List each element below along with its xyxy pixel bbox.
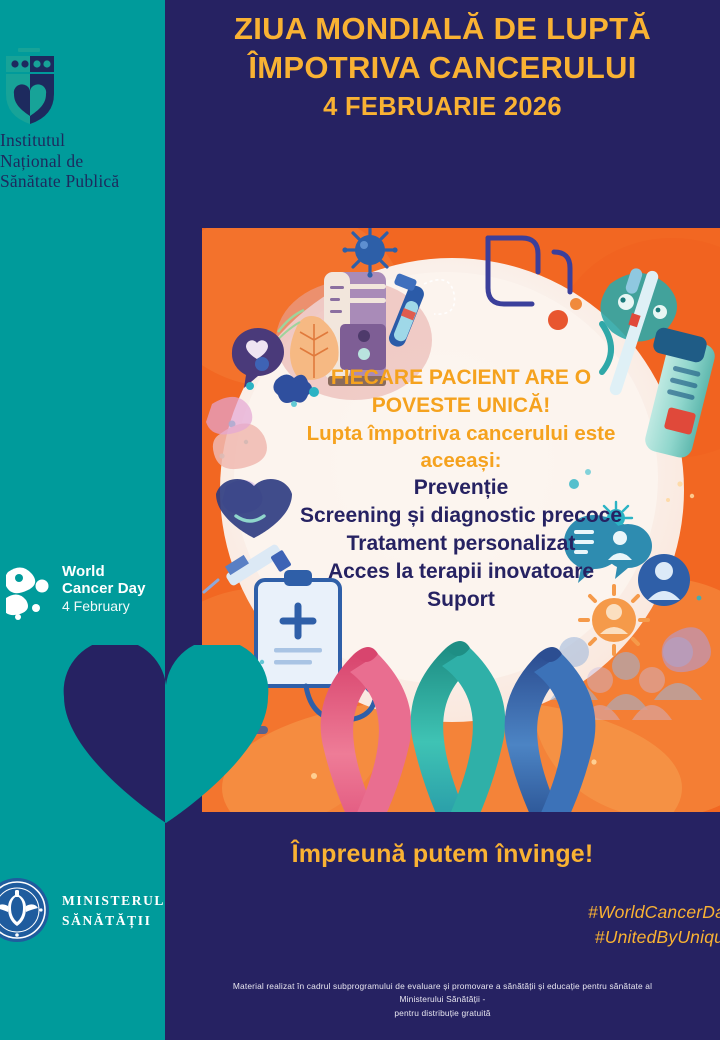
message-block: FIECARE PACIENT ARE O POVESTE UNICĂ! Lup… [242, 364, 680, 614]
poster-root: FIECARE PACIENT ARE O POVESTE UNICĂ! Lup… [0, 0, 720, 1040]
message-item-acces: Acces la terapii inovatoare [242, 558, 680, 586]
hashtag-unitedbyunique: #UnitedByUnique [165, 925, 720, 950]
message-accent-line1: FIECARE PACIENT ARE O [242, 364, 680, 392]
hashtag-worldcancerday: #WorldCancerDay [165, 900, 720, 925]
wcd-line1: World [62, 564, 146, 581]
poster-header: ZIUA MONDIALĂ DE LUPTĂ ÎMPOTRIVA CANCERU… [165, 0, 720, 124]
fineprint: Material realizat în cadrul subprogramul… [165, 980, 720, 1020]
title-line-2: ÎMPOTRIVA CANCERULUI [165, 48, 720, 87]
ministry-line2: SĂNĂTĂȚII [62, 911, 165, 931]
message-item-tratament: Tratament personalizat [242, 530, 680, 558]
world-cancer-day-dots-logo [6, 564, 62, 622]
message-accent-line4: aceeași: [242, 447, 680, 474]
insp-name: Institutul Național de Sănătate Publică [0, 130, 165, 192]
title-date: 4 FEBRUARIE 2026 [165, 91, 720, 124]
insp-shield-heart-logo [4, 48, 56, 124]
fineprint-line1: Material realizat în cadrul subprogramul… [165, 980, 720, 993]
ministry-line1: MINISTERUL [62, 891, 165, 911]
fineprint-line2: Ministerului Sănătății - [165, 993, 720, 1006]
insp-logo: Institutul Național de Sănătate Publică [0, 48, 165, 218]
insp-name-line1: Institutul [0, 130, 165, 151]
hashtags: #WorldCancerDay #UnitedByUnique [165, 900, 720, 951]
message-accent-line2: POVESTE UNICĂ! [242, 392, 680, 420]
ministry-name: MINISTERUL SĂNĂTĂȚII [62, 891, 165, 930]
insp-name-line2: Național de [0, 151, 165, 172]
world-cancer-day-text: World Cancer Day 4 February [62, 564, 146, 615]
left-sidebar: Institutul Național de Sănătate Publică … [0, 0, 165, 1040]
illustration-panel: FIECARE PACIENT ARE O POVESTE UNICĂ! Lup… [202, 228, 720, 812]
world-cancer-day-logo: World Cancer Day 4 February [0, 558, 165, 628]
ministry-of-health-logo: MINISTERUL SĂNĂTĂȚII [0, 876, 165, 948]
title-line-1: ZIUA MONDIALĂ DE LUPTĂ [165, 9, 720, 48]
wcd-line2: Cancer Day [62, 581, 146, 598]
message-accent-line3: Lupta împotriva cancerului este [242, 420, 680, 447]
fineprint-line3: pentru distribuție gratuită [165, 1007, 720, 1020]
insp-name-line3: Sănătate Publică [0, 171, 165, 192]
message-item-screening: Screening și diagnostic precoce [242, 502, 680, 530]
guvernul-romaniei-seal [0, 876, 50, 944]
slogan: Împreună putem învinge! [165, 840, 720, 869]
message-item-preventie: Prevenție [242, 474, 680, 502]
message-item-suport: Suport [242, 586, 680, 614]
wcd-line3: 4 February [62, 598, 146, 616]
